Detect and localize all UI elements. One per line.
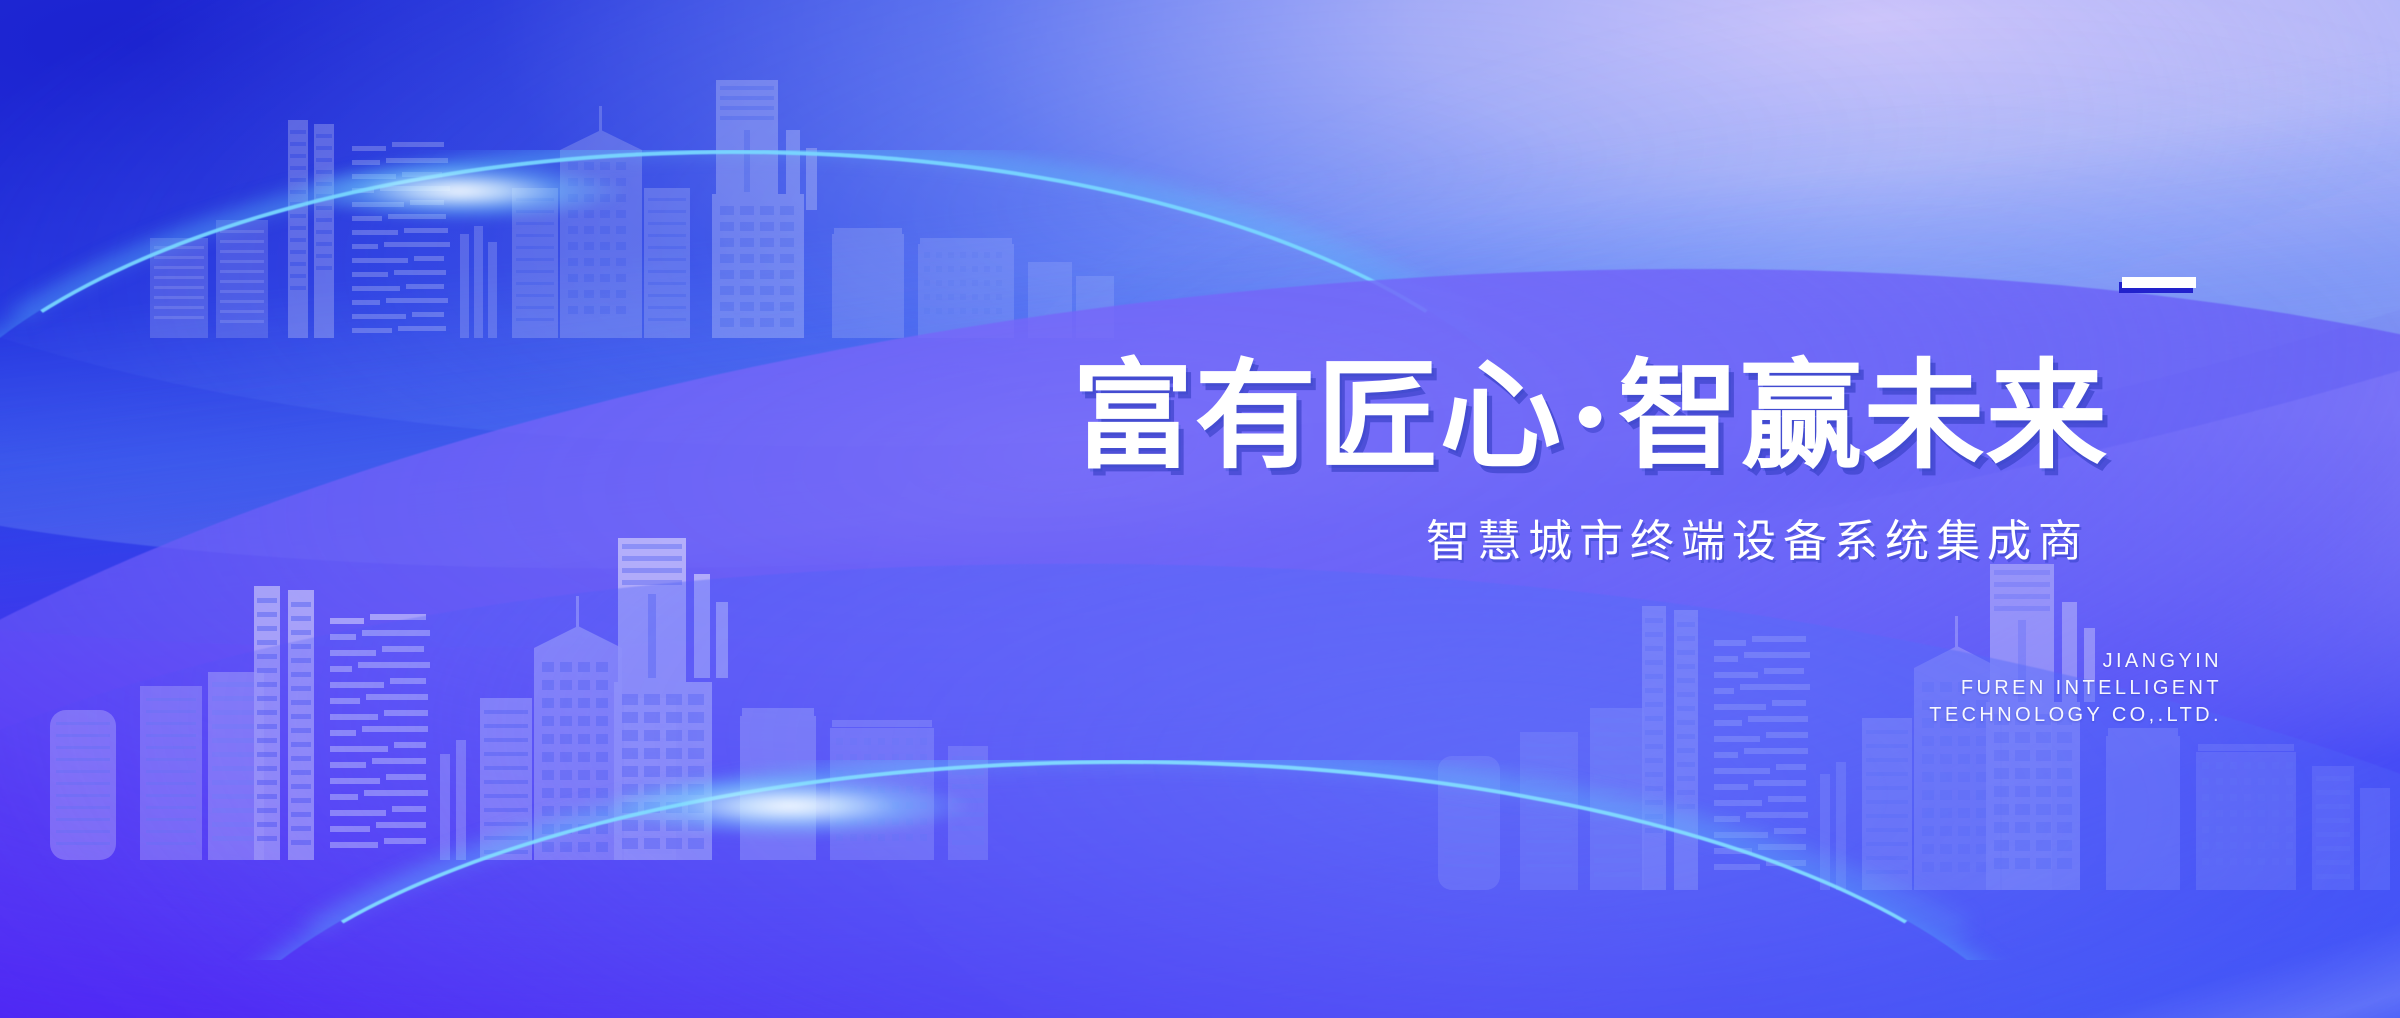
company-name-block: JIANGYIN FUREN INTELLIGENT TECHNOLOGY CO… <box>1662 648 2222 729</box>
arc-bottom-hotspot <box>560 766 1020 846</box>
accent-dash <box>2122 277 2196 288</box>
headline-separator-dot: · <box>1579 406 1602 428</box>
arc-bottom-glow <box>180 760 2060 960</box>
headline-title: 富有匠心·智赢未来 <box>1072 358 2246 478</box>
arc-top-hotspot <box>250 152 670 230</box>
banner-canvas: 富有匠心·智赢未来 智慧城市终端设备系统集成商 JIANGYIN FUREN I… <box>0 0 2400 1018</box>
headline-part-1: 富有匠心 <box>1072 351 1562 483</box>
company-line-3: TECHNOLOGY CO,.LTD. <box>1662 702 2222 729</box>
company-line-2: FUREN INTELLIGENT <box>1662 675 2222 702</box>
company-line-1: JIANGYIN <box>1662 648 2222 675</box>
headline-subtitle: 智慧城市终端设备系统集成商 <box>1426 514 2216 570</box>
headline-part-2: 智赢未来 <box>1618 351 2108 483</box>
